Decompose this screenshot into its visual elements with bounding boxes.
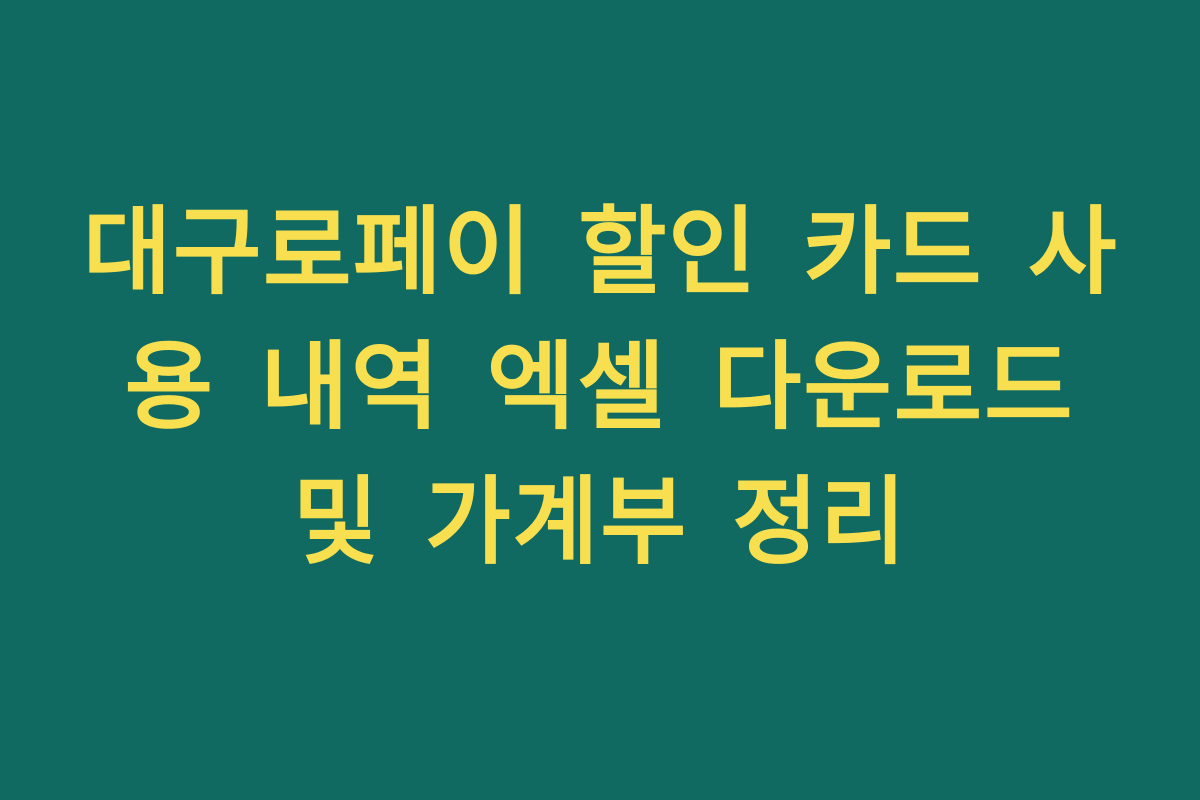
- headline-line-3: 및 가계부 정리: [292, 455, 907, 590]
- page-title: 대구로페이 할인 카드 사 용 내역 엑셀 다운로드 및 가계부 정리: [55, 185, 1145, 590]
- headline-line-1: 대구로페이 할인 카드 사: [82, 185, 1117, 320]
- headline-line-2: 용 내역 엑셀 다운로드: [125, 320, 1075, 455]
- banner-canvas: 대구로페이 할인 카드 사 용 내역 엑셀 다운로드 및 가계부 정리: [0, 0, 1200, 800]
